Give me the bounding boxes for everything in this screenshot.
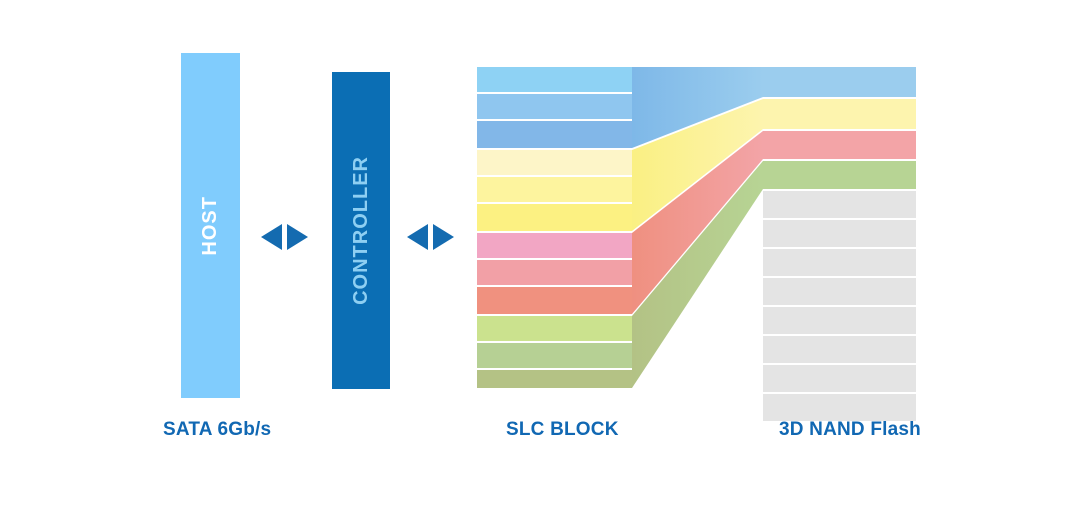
slc-row xyxy=(477,287,632,314)
slc-row xyxy=(477,177,632,202)
slc-row xyxy=(477,343,632,368)
controller-slc-arrow xyxy=(407,224,454,250)
arrow-right-icon xyxy=(287,224,308,250)
arrow-left-icon xyxy=(407,224,428,250)
caption-slc: SLC BLOCK xyxy=(506,419,619,441)
caption-nand: 3D NAND Flash xyxy=(779,419,921,441)
nand-row xyxy=(763,220,916,247)
slc-row xyxy=(477,204,632,231)
nand-row xyxy=(763,161,916,189)
arrow-left-icon xyxy=(261,224,282,250)
host-controller-arrow xyxy=(261,224,308,250)
host-block: HOST xyxy=(181,53,240,398)
nand-row xyxy=(763,67,916,97)
slc-row xyxy=(477,260,632,285)
funnel-segment-blue xyxy=(632,67,763,148)
controller-block: CONTROLLER xyxy=(332,72,390,389)
arrow-right-icon xyxy=(433,224,454,250)
slc-row xyxy=(477,370,632,388)
nand-row xyxy=(763,278,916,305)
diagram-canvas: HOST CONTROLLER SATA 6Gb/s SLC BLOCK 3D … xyxy=(0,0,1080,508)
slc-row xyxy=(477,67,632,92)
slc-row xyxy=(477,121,632,148)
nand-row xyxy=(763,336,916,363)
slc-block-stack xyxy=(477,67,632,388)
nand-row xyxy=(763,365,916,392)
nand-row xyxy=(763,394,916,421)
slc-row xyxy=(477,94,632,119)
nand-row xyxy=(763,131,916,159)
funnel-segment-yellow xyxy=(632,99,763,231)
caption-sata: SATA 6Gb/s xyxy=(163,419,271,441)
controller-label: CONTROLLER xyxy=(350,156,373,305)
funnel-segment-green xyxy=(632,161,763,388)
host-label: HOST xyxy=(199,196,222,256)
funnel-segment-red xyxy=(632,131,763,314)
nand-row xyxy=(763,99,916,129)
slc-row xyxy=(477,233,632,258)
nand-flash-stack xyxy=(763,67,916,388)
nand-row xyxy=(763,307,916,334)
nand-row xyxy=(763,191,916,218)
slc-row xyxy=(477,150,632,175)
slc-row xyxy=(477,316,632,341)
nand-row xyxy=(763,249,916,276)
